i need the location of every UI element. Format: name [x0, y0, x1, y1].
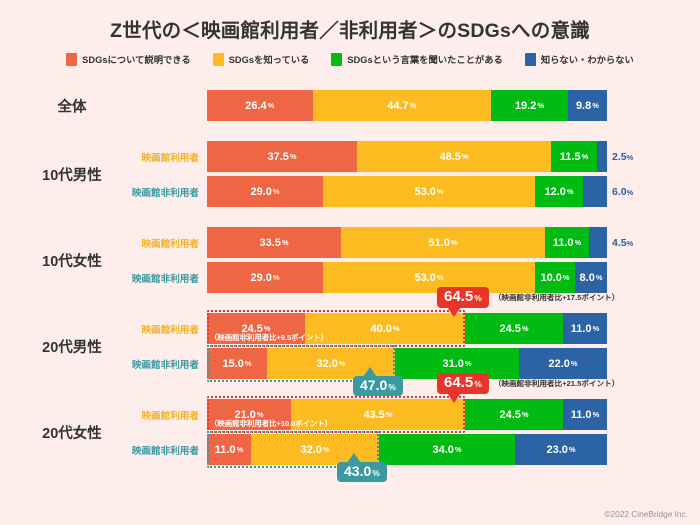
row-label-nonuser: 映画館非利用者	[103, 357, 199, 371]
outside-value-label: 2.5%	[612, 151, 633, 163]
stacked-bar: 21.0%43.5%24.5%11.0%（映画館非利用者比+10.0ポイント）6…	[207, 399, 607, 430]
percent-symbol: %	[273, 187, 280, 196]
legend-swatch-icon	[525, 53, 536, 66]
stacked-bar: 37.5%48.5%11.5%2.5%	[207, 141, 607, 172]
segment-value: 23.0	[546, 444, 567, 456]
chart-row: 映画館非利用者29.0%53.0%12.0%6.0%	[0, 176, 700, 207]
chart-row: 映画館利用者37.5%48.5%11.5%2.5%	[0, 141, 700, 172]
legend-label: SDGsについて説明できる	[82, 52, 191, 66]
legend-item: SDGsを知っている	[213, 52, 310, 66]
segment-value: 11.5	[560, 151, 581, 163]
percent-symbol: %	[474, 380, 482, 389]
bar-segment: 11.5%	[551, 141, 597, 172]
row-label-user: 映画館利用者	[103, 408, 199, 422]
segment-value: 32.0	[300, 444, 321, 456]
callout-value: 64.5	[444, 375, 473, 391]
percent-symbol: %	[410, 101, 417, 110]
percent-symbol: %	[593, 324, 600, 333]
row-label-user: 映画館利用者	[103, 150, 199, 164]
bar-segment: 11.0%	[563, 399, 607, 430]
percent-symbol: %	[474, 294, 482, 303]
stacked-bar: 33.5%51.0%11.0%4.5%	[207, 227, 607, 258]
bar-segment: 48.5%	[357, 141, 551, 172]
callout-bubble: 47.0%	[353, 376, 403, 396]
percent-symbol: %	[437, 273, 444, 282]
row-label-nonuser: 映画館非利用者	[103, 443, 199, 457]
bar-segment: 26.4%	[207, 90, 313, 121]
chart-row: 映画館利用者24.5%40.0%24.5%11.0%（映画館非利用者比+9.5ポ…	[0, 313, 700, 344]
percent-symbol: %	[372, 469, 380, 478]
bar-segment: 29.0%	[207, 262, 323, 293]
chart-row: 映画館利用者33.5%51.0%11.0%4.5%	[0, 227, 700, 258]
percent-symbol: %	[268, 101, 275, 110]
callout-value: 47.0	[360, 378, 387, 393]
legend-swatch-icon	[213, 53, 224, 66]
legend-item: SDGsについて説明できる	[66, 52, 191, 66]
percent-symbol: %	[575, 238, 582, 247]
bar-segment	[583, 176, 607, 207]
chart-group: 全体26.4%44.7%19.2%9.8%	[0, 90, 700, 121]
bar-segment	[597, 141, 607, 172]
callout: 64.5%（映画館非利用者比+17.5ポイント）	[437, 287, 619, 308]
chart-group: 20代男性映画館利用者24.5%40.0%24.5%11.0%（映画館非利用者比…	[0, 313, 700, 379]
segment-value: 53.0	[414, 272, 435, 284]
segment-value: 31.0	[442, 358, 463, 370]
percent-symbol: %	[462, 152, 469, 161]
bar-segment: 44.7%	[313, 90, 492, 121]
percent-symbol: %	[282, 238, 289, 247]
percent-symbol: %	[386, 410, 393, 419]
stacked-bar: 29.0%53.0%12.0%6.0%	[207, 176, 607, 207]
bar-segment: 11.0%	[207, 434, 251, 465]
percent-symbol: %	[465, 359, 472, 368]
chart-rows: 全体26.4%44.7%19.2%9.8%10代男性映画館利用者37.5%48.…	[0, 90, 700, 465]
stacked-bar: 26.4%44.7%19.2%9.8%	[207, 90, 607, 121]
copyright-footer: ©2022 CineBridge Inc.	[604, 509, 688, 519]
percent-symbol: %	[339, 359, 346, 368]
segment-value: 51.0	[428, 237, 449, 249]
bar-segment: 11.0%	[563, 313, 607, 344]
legend: SDGsについて説明できるSDGsを知っているSDGsという言葉を聞いたことがあ…	[0, 52, 700, 66]
row-label-nonuser: 映画館非利用者	[103, 185, 199, 199]
segment-value: 48.5	[439, 151, 460, 163]
bar-segment: 33.5%	[207, 227, 341, 258]
callout: 47.0%	[353, 376, 403, 396]
callout-value: 43.0	[344, 464, 371, 479]
legend-swatch-icon	[66, 53, 77, 66]
percent-symbol: %	[393, 324, 400, 333]
callout-bubble: 43.0%	[337, 462, 387, 482]
bar-segment: 11.0%	[545, 227, 589, 258]
percent-symbol: %	[537, 101, 544, 110]
callout: 43.0%	[337, 462, 387, 482]
segment-value: 11.0	[571, 323, 592, 335]
segment-value: 19.2	[515, 100, 536, 112]
percent-symbol: %	[596, 273, 603, 282]
chart-group: 10代男性映画館利用者37.5%48.5%11.5%2.5%映画館非利用者29.…	[0, 141, 700, 207]
percent-symbol: %	[323, 445, 330, 454]
segment-value: 24.5	[499, 323, 520, 335]
percent-symbol: %	[388, 383, 396, 392]
bar-segment: 19.2%	[491, 90, 568, 121]
segment-value: 24.5	[499, 409, 520, 421]
inline-annotation: （映画館非利用者比+10.0ポイント）	[210, 418, 332, 429]
segment-value: 11.0	[553, 237, 574, 249]
outside-value-label: 4.5%	[612, 237, 633, 249]
segment-value: 43.5	[363, 409, 384, 421]
chart-row: 映画館利用者21.0%43.5%24.5%11.0%（映画館非利用者比+10.0…	[0, 399, 700, 430]
chart-row: 映画館非利用者11.0%32.0%34.0%23.0%43.0%	[0, 434, 700, 465]
percent-symbol: %	[582, 152, 589, 161]
stacked-bar: 24.5%40.0%24.5%11.0%（映画館非利用者比+9.5ポイント）64…	[207, 313, 607, 344]
segment-value: 15.0	[222, 358, 243, 370]
legend-label: SDGsを知っている	[229, 52, 310, 66]
legend-swatch-icon	[331, 53, 342, 66]
chart-canvas: Z世代の＜映画館利用者／非利用者＞のSDGsへの意識 SDGsについて説明できる…	[0, 0, 700, 525]
bar-segment: 53.0%	[323, 176, 535, 207]
percent-symbol: %	[593, 410, 600, 419]
callout-bubble: 64.5%	[437, 287, 489, 308]
bar-segment: 37.5%	[207, 141, 357, 172]
segment-value: 40.0	[370, 323, 391, 335]
segment-value: 11.0	[215, 444, 236, 456]
bar-segment: 34.0%	[379, 434, 515, 465]
bar-segment: 24.5%	[465, 399, 563, 430]
bar-segment: 40.0%	[305, 313, 465, 344]
percent-symbol: %	[569, 445, 576, 454]
bar-segment: 9.8%	[568, 90, 607, 121]
row-label-user: 映画館利用者	[103, 236, 199, 250]
percent-symbol: %	[563, 273, 570, 282]
chart-row: 全体26.4%44.7%19.2%9.8%	[0, 90, 700, 121]
percent-symbol: %	[592, 101, 599, 110]
bar-segment: 12.0%	[535, 176, 583, 207]
callout-bubble: 64.5%	[437, 373, 489, 394]
bar-segment	[589, 227, 607, 258]
percent-symbol: %	[437, 187, 444, 196]
segment-value: 10.0	[540, 272, 561, 284]
outside-value-label: 6.0%	[612, 186, 633, 198]
callout-note: （映画館非利用者比+21.5ポイント）	[494, 378, 620, 389]
segment-value: 29.0	[250, 272, 271, 284]
percent-symbol: %	[522, 410, 529, 419]
segment-value: 9.8	[576, 100, 591, 112]
callout-note: （映画館非利用者比+17.5ポイント）	[494, 292, 620, 303]
callout-value: 64.5	[444, 289, 473, 305]
segment-value: 29.0	[250, 186, 271, 198]
segment-value: 44.7	[387, 100, 408, 112]
percent-symbol: %	[451, 238, 458, 247]
segment-value: 33.5	[259, 237, 280, 249]
percent-symbol: %	[571, 359, 578, 368]
row-label-user: 映画館利用者	[103, 322, 199, 336]
row-label-overall: 全体	[18, 95, 126, 116]
legend-item: 知らない・わからない	[525, 52, 634, 66]
segment-value: 53.0	[414, 186, 435, 198]
bar-segment: 29.0%	[207, 176, 323, 207]
segment-value: 37.5	[267, 151, 288, 163]
segment-value: 11.0	[571, 409, 592, 421]
bar-segment: 23.0%	[515, 434, 607, 465]
bar-segment: 24.5%	[465, 313, 563, 344]
page-title: Z世代の＜映画館利用者／非利用者＞のSDGsへの意識	[0, 14, 700, 43]
segment-value: 12.0	[544, 186, 565, 198]
percent-symbol: %	[522, 324, 529, 333]
segment-value: 22.0	[548, 358, 569, 370]
callout: 64.5%（映画館非利用者比+21.5ポイント）	[437, 373, 619, 394]
bar-segment: 51.0%	[341, 227, 545, 258]
segment-value: 26.4	[245, 100, 266, 112]
legend-label: SDGsという言葉を聞いたことがある	[347, 52, 502, 66]
row-label-nonuser: 映画館非利用者	[103, 271, 199, 285]
chart-group: 10代女性映画館利用者33.5%51.0%11.0%4.5%映画館非利用者29.…	[0, 227, 700, 293]
percent-symbol: %	[455, 445, 462, 454]
percent-symbol: %	[237, 445, 244, 454]
legend-item: SDGsという言葉を聞いたことがある	[331, 52, 502, 66]
bar-segment: 15.0%	[207, 348, 267, 379]
inline-annotation: （映画館非利用者比+9.5ポイント）	[210, 332, 328, 343]
segment-value: 8.0	[580, 272, 595, 284]
legend-label: 知らない・わからない	[541, 52, 634, 66]
segment-value: 32.0	[316, 358, 337, 370]
percent-symbol: %	[567, 187, 574, 196]
stacked-bar: 11.0%32.0%34.0%23.0%43.0%	[207, 434, 607, 465]
percent-symbol: %	[290, 152, 297, 161]
chart-group: 20代女性映画館利用者21.0%43.5%24.5%11.0%（映画館非利用者比…	[0, 399, 700, 465]
segment-value: 34.0	[432, 444, 453, 456]
percent-symbol: %	[245, 359, 252, 368]
percent-symbol: %	[273, 273, 280, 282]
